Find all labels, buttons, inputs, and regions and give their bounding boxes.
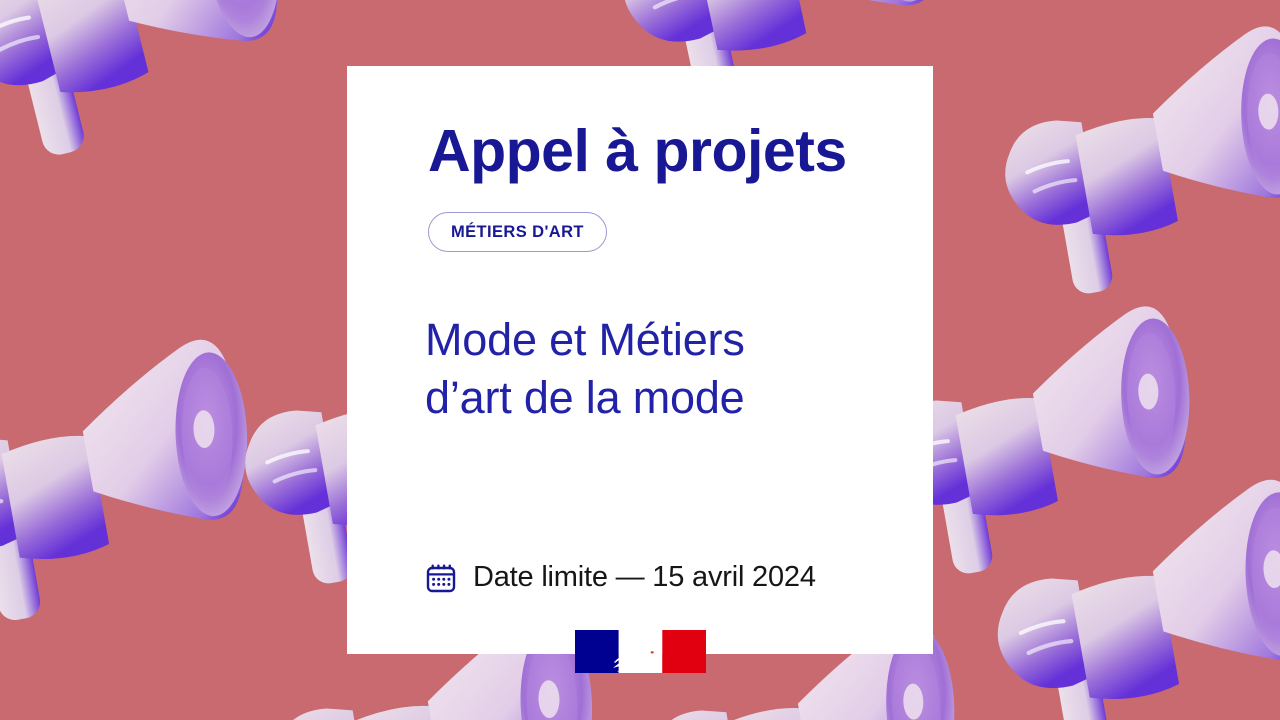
deadline-text: Date limite — 15 avril 2024 (473, 561, 816, 594)
page-title: Appel à projets (428, 121, 847, 183)
megaphone-icon (0, 0, 341, 209)
program-subtitle-line-2: d’art de la mode (425, 369, 745, 427)
marianne-french-republic-logo (575, 630, 706, 673)
deadline-row: Date limite — 15 avril 2024 (425, 561, 816, 594)
announcement-card: Appel à projets MÉTIERS D'ART Mode et Mé… (347, 66, 933, 654)
category-badge: MÉTIERS D'ART (428, 212, 607, 252)
program-subtitle-line-1: Mode et Métiers (425, 311, 745, 369)
calendar-icon (425, 562, 457, 594)
category-badge-label: MÉTIERS D'ART (451, 223, 584, 242)
poster-background: Appel à projets MÉTIERS D'ART Mode et Mé… (0, 0, 1280, 720)
program-subtitle: Mode et Métiers d’art de la mode (425, 311, 745, 426)
